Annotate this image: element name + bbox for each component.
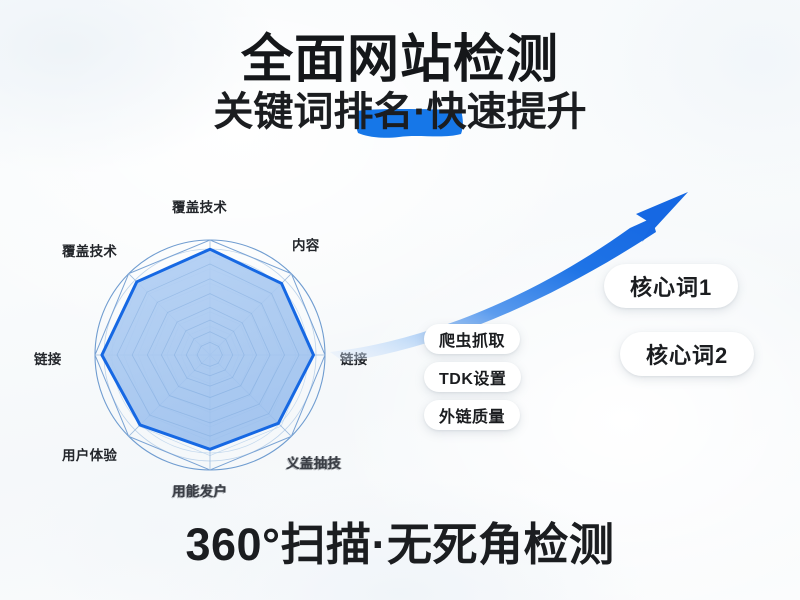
radar-label-1: 内容 [292,234,320,254]
keyword-pill-1[interactable]: 核心词1 [604,264,738,308]
page-subtitle: 关键词排名·快速提升 [0,92,800,132]
page-footer-title: 360°扫描·无死角检测 [0,522,800,567]
radar-label-4: 用能发户 [172,480,227,500]
headline-block: 全面网站检测 [0,34,800,86]
tag-pill-crawl-label: 爬虫抓取 [439,327,505,351]
poster-canvas: 全面网站检测 关键词排名·快速提升 覆盖技术 内容 链接 [0,0,800,600]
tag-pill-tdk-label: TDK设置 [439,365,506,389]
page-title: 全面网站检测 [0,34,800,86]
radar-label-3: 义盖抽技 [286,452,341,472]
radar-label-0: 覆盖技术 [172,196,227,216]
keyword-pill-2-label: 核心词2 [646,338,728,370]
radar-chart: 覆盖技术 内容 链接 义盖抽技 用能发户 用户体验 链接 覆盖技术 [30,190,400,520]
tag-pill-backlink-label: 外链质量 [439,403,505,427]
keyword-pill-1-label: 核心词1 [630,270,712,302]
keyword-pill-2[interactable]: 核心词2 [620,332,754,376]
radar-label-2: 链接 [340,348,368,368]
arrow-head [636,192,688,242]
radar-label-6: 链接 [34,348,62,368]
tag-pill-crawl[interactable]: 爬虫抓取 [424,324,520,354]
radar-label-7: 覆盖技术 [62,240,117,260]
tag-pill-backlink[interactable]: 外链质量 [424,400,520,430]
radar-label-5: 用户体验 [62,444,117,464]
tag-pill-tdk[interactable]: TDK设置 [424,362,521,392]
